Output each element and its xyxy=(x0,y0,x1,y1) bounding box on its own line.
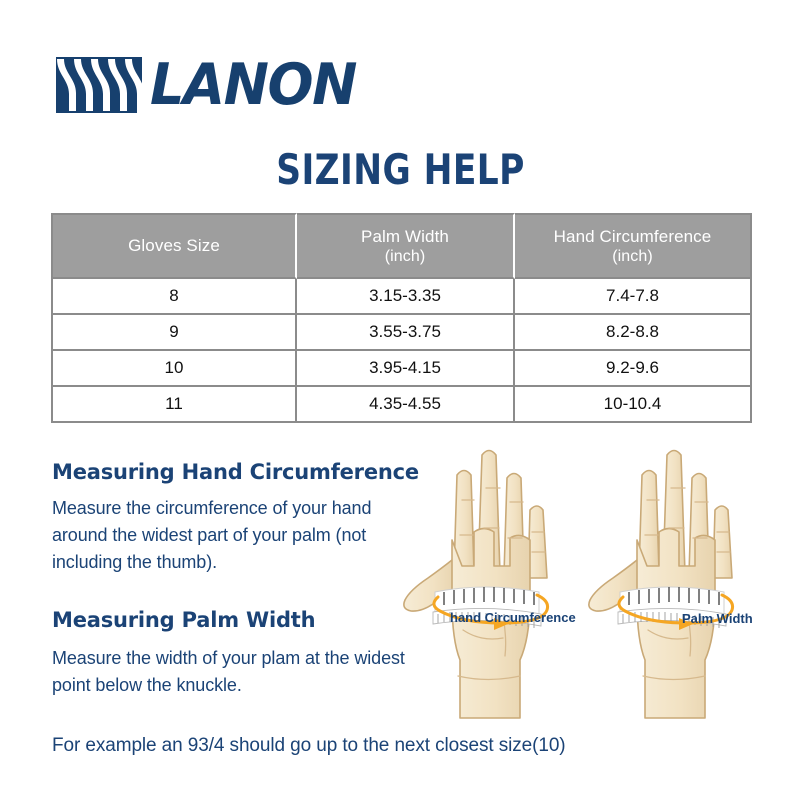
column-header-label: Hand Circumference xyxy=(554,227,712,246)
heading-strong: Palm Width xyxy=(182,608,316,632)
cell-hand-circumference: 7.4-7.8 xyxy=(515,279,752,315)
column-header-unit: (inch) xyxy=(515,247,750,266)
cell-palm-width: 4.35-4.55 xyxy=(297,387,515,423)
column-header-palm-width: Palm Width (inch) xyxy=(297,213,515,279)
cell-palm-width: 3.95-4.15 xyxy=(297,351,515,387)
cell-gloves-size: 11 xyxy=(51,387,297,423)
cell-hand-circumference: 10-10.4 xyxy=(515,387,752,423)
example-note: For example an 93/4 should go up to the … xyxy=(52,735,566,757)
cell-hand-circumference: 9.2-9.6 xyxy=(515,351,752,387)
cell-palm-width: 3.55-3.75 xyxy=(297,315,515,351)
cell-palm-width: 3.15-3.35 xyxy=(297,279,515,315)
heading-strong: Hand Circumference xyxy=(182,460,419,484)
section-heading-hand-circumference: Measuring Hand Circumference xyxy=(52,460,419,484)
column-header-label: Palm Width xyxy=(361,227,449,246)
cell-gloves-size: 8 xyxy=(51,279,297,315)
heading-prefix: Measuring xyxy=(52,460,182,484)
table-header-row: Gloves Size Palm Width (inch) Hand Circu… xyxy=(51,213,752,279)
cell-gloves-size: 10 xyxy=(51,351,297,387)
hand-caption-palm-width: Palm Width xyxy=(682,611,753,626)
column-header-label: Gloves Size xyxy=(128,236,220,255)
column-header-gloves-size: Gloves Size xyxy=(51,213,297,279)
page-title: SIZING HELP xyxy=(72,146,729,194)
brand-logo: LANON xyxy=(56,57,367,113)
cell-hand-circumference: 8.2-8.8 xyxy=(515,315,752,351)
sizing-table: Gloves Size Palm Width (inch) Hand Circu… xyxy=(51,213,752,423)
heading-prefix: Measuring xyxy=(52,608,182,632)
hand-palm-icon xyxy=(585,440,785,730)
hand-caption-circumference: hand Circumference xyxy=(450,610,576,625)
sizing-help-page: LANON SIZING HELP Gloves Size Palm Width… xyxy=(0,0,801,800)
cell-gloves-size: 9 xyxy=(51,315,297,351)
column-header-hand-circumference: Hand Circumference (inch) xyxy=(515,213,752,279)
section-body-palm-width: Measure the width of your plam at the wi… xyxy=(52,645,442,699)
table-row: 11 4.35-4.55 10-10.4 xyxy=(51,387,752,423)
lanon-wave-mark-icon xyxy=(56,57,142,113)
hand-palm-icon xyxy=(400,440,600,730)
table-row: 9 3.55-3.75 8.2-8.8 xyxy=(51,315,752,351)
column-header-unit: (inch) xyxy=(297,247,513,266)
table-row: 8 3.15-3.35 7.4-7.8 xyxy=(51,279,752,315)
brand-name: LANON xyxy=(150,57,356,113)
table-row: 10 3.95-4.15 9.2-9.6 xyxy=(51,351,752,387)
section-heading-palm-width: Measuring Palm Width xyxy=(52,608,315,632)
section-body-hand-circumference: Measure the circumference of your hand a… xyxy=(52,495,422,576)
